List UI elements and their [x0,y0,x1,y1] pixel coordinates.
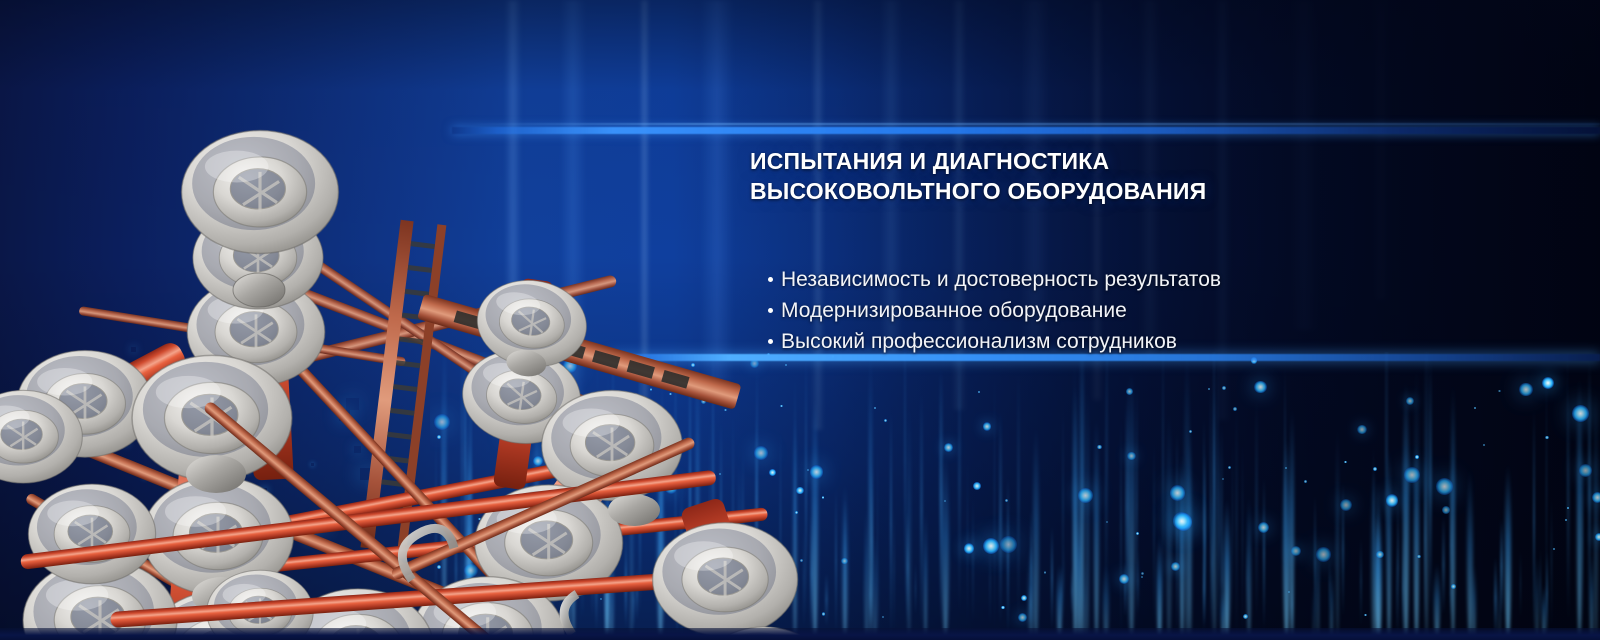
light-particle [1592,492,1600,503]
light-particle [1545,436,1548,439]
light-particle [1044,571,1046,573]
light-particle [1572,405,1589,422]
light-particle [1415,455,1419,459]
light-particle [1078,488,1093,503]
light-particle [1519,383,1533,397]
light-particle [1170,485,1186,501]
list-item-label: Независимость и достоверность результато… [781,268,1221,291]
light-trail [1157,534,1162,640]
light-streak [994,367,995,637]
light-streak [1203,549,1205,627]
light-particle [884,419,887,422]
list-item: Высокий профессионализм сотрудников [750,326,1510,357]
bullet-point-icon [768,277,773,282]
light-streak [1494,557,1497,639]
light-particle [1018,613,1027,622]
light-streak [890,411,892,637]
light-streak [1136,381,1138,631]
light-trail [1028,544,1034,640]
list-item: Независимость и достоверность результато… [750,264,1510,295]
light-trail [1166,409,1172,640]
light-particle [1316,547,1330,561]
light-streak [920,392,923,630]
light-particle [1565,519,1567,521]
light-streak [1520,550,1521,618]
light-streak [1501,522,1502,628]
light-streak [1235,404,1238,639]
light-particle [882,616,884,618]
light-trail [1077,501,1081,640]
light-trail [907,401,910,640]
light-streak [958,352,961,615]
bullet-point-icon [768,339,773,344]
light-streak [1546,551,1548,636]
light-streak [1176,432,1178,632]
light-particle [1451,584,1456,589]
light-particle [1288,591,1290,593]
light-particle [1404,467,1420,483]
light-trail [1403,380,1409,640]
light-particle [1579,464,1592,477]
banner-text-block: ИСПЫТАНИЯ И ДИАГНОСТИКА ВЫСОКОВОЛЬТНОГО … [750,146,1510,357]
light-streak [939,365,941,618]
high-voltage-insulator-assembly-image [0,100,880,640]
light-streak [1263,477,1265,630]
light-particle [944,443,953,452]
light-particle [983,422,991,430]
light-trail [924,508,927,640]
light-particle [1595,533,1600,541]
light-particle [1340,499,1352,511]
light-streak [999,410,1002,627]
light-streak [1217,356,1219,638]
light-streak [1051,526,1053,630]
light-streak [1551,496,1552,628]
light-streak [1442,515,1445,615]
headline-line-2: ВЫСОКОВОЛЬТНОГО ОБОРУДОВАНИЯ [750,176,1510,206]
light-particle [1258,522,1269,533]
light-particle [1001,606,1005,610]
light-particle [1222,478,1224,480]
light-particle [1542,377,1554,389]
light-streak [1242,439,1243,640]
feature-list: Независимость и достоверность результато… [750,264,1510,357]
light-streak [915,562,916,615]
light-trail [1505,463,1512,640]
light-particle [973,482,981,490]
light-streak [1120,416,1122,639]
light-particle [1141,576,1143,578]
light-particle [1304,480,1306,482]
light-streak [1210,380,1211,635]
light-streak [1567,352,1568,616]
light-particle [1171,562,1180,571]
light-particle [1498,390,1501,393]
light-particle [1553,548,1555,550]
light-streak [1360,537,1362,626]
light-trail [1336,423,1339,640]
light-particle [1021,595,1027,601]
light-trail [1086,384,1089,640]
bullet-point-icon [768,308,773,313]
light-particle [1483,444,1485,446]
light-particle [1567,507,1569,509]
light-particle [1291,546,1301,556]
light-trail [1290,407,1295,640]
light-streak [1162,352,1164,612]
light-streak [1017,368,1020,628]
light-particle [1436,478,1453,495]
list-item: Модернизированное оборудование [750,295,1510,326]
promo-banner: ИСПЫТАНИЯ И ДИАГНОСТИКА ВЫСОКОВОЛЬТНОГО … [0,0,1600,640]
light-particle [1254,381,1267,394]
light-particle [1228,466,1231,469]
light-streak [1429,358,1432,611]
light-trail [1451,383,1455,640]
page-title: ИСПЫТАНИЯ И ДИАГНОСТИКА ВЫСОКОВОЛЬТНОГО … [750,146,1510,206]
light-particle [1373,467,1377,471]
light-streak [1061,565,1062,624]
light-trail [1594,388,1597,640]
light-particle [1417,555,1421,559]
light-particle [978,391,980,393]
light-particle [1474,407,1476,409]
headline-line-1: ИСПЫТАНИЯ И ДИАГНОСТИКА [750,146,1510,176]
light-trail [1213,382,1217,640]
light-trail [1033,425,1039,640]
light-trail [1224,498,1230,640]
light-trail [1094,416,1099,640]
light-particle [1222,386,1226,390]
light-particle [1136,532,1139,535]
light-streak [972,497,974,623]
light-streak [1062,542,1065,621]
list-item-label: Модернизированное оборудование [781,299,1127,322]
light-streak [1255,398,1258,624]
light-streak [1540,548,1541,625]
light-particle [1005,499,1008,502]
light-particle [1376,551,1383,558]
light-particle [1364,614,1366,616]
light-streak [1397,499,1399,637]
light-particle [1406,397,1414,405]
light-trail [1188,424,1192,640]
light-particle [964,543,974,553]
light-particle [1000,536,1018,554]
light-particle [1127,452,1135,460]
light-streak [893,506,895,634]
light-particle [1141,572,1144,575]
light-particle [1119,574,1129,584]
light-particle [1097,445,1102,450]
light-streak [1232,436,1233,623]
light-particle [1357,425,1366,434]
light-particle [1344,461,1347,464]
light-streak [1153,438,1155,631]
light-trail [1387,446,1392,640]
light-trail [942,453,949,640]
light-particle [1442,506,1450,514]
light-trail [1128,368,1135,640]
bottom-edge-strip [0,628,1600,640]
light-streak [1124,562,1126,617]
light-particle [983,538,1000,555]
light-particle [1173,512,1190,529]
list-item-label: Высокий профессионализм сотрудников [781,330,1177,353]
light-streak [1396,542,1397,636]
light-streak [904,352,906,611]
light-trail [1180,451,1184,640]
